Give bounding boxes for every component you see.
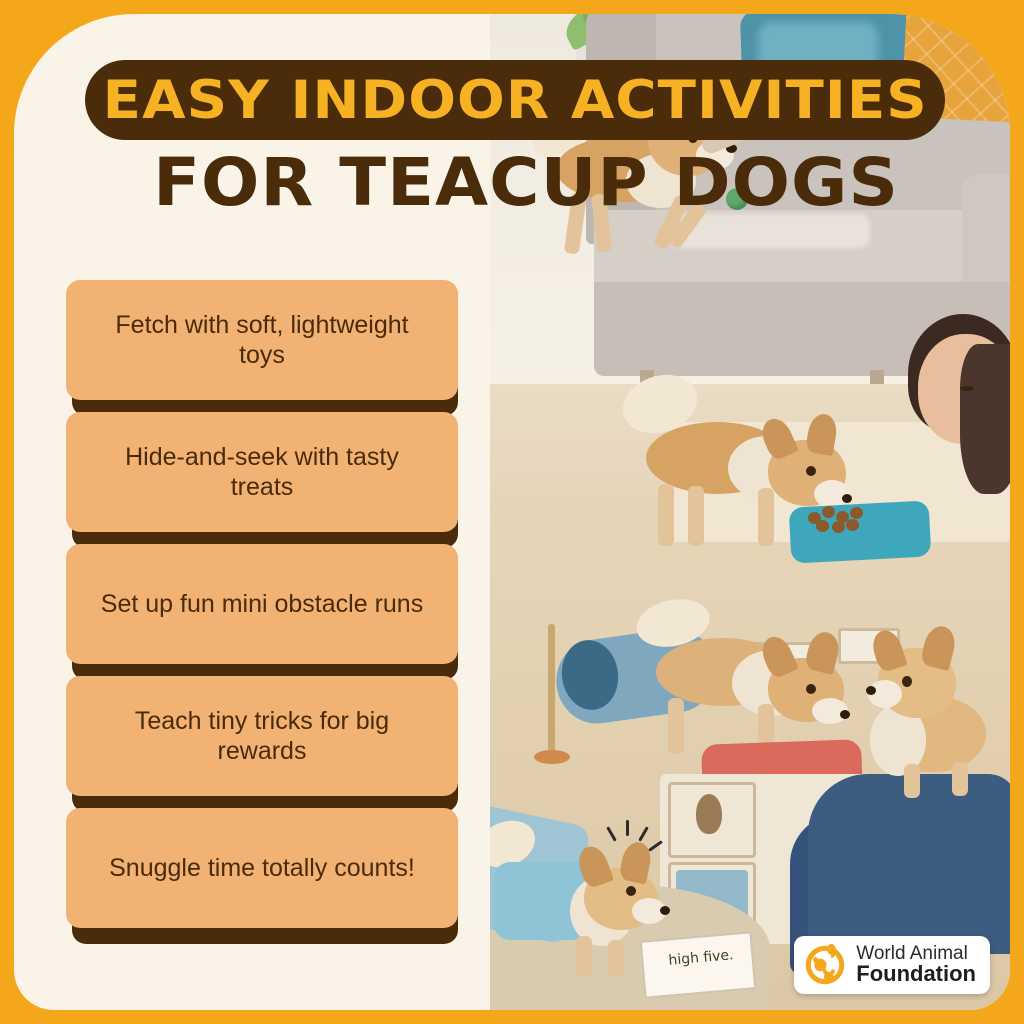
dog-ear — [804, 629, 843, 675]
list-item[interactable]: Hide-and-seek with tasty treats — [66, 412, 466, 532]
page-title-line2: FOR TEACUP DOGS — [14, 144, 1010, 221]
world-animal-foundation-logo-icon — [803, 943, 847, 987]
dog-eye — [626, 886, 636, 896]
title-banner: EASY INDOOR ACTIVITIES — [85, 60, 945, 140]
treat — [846, 519, 859, 531]
treat — [832, 521, 845, 533]
brand-logo-text: World Animal Foundation — [856, 944, 976, 986]
dog-leg — [952, 762, 968, 796]
activity-card[interactable]: Set up fun mini obstacle runs — [66, 544, 458, 664]
brand-logo[interactable]: World Animal Foundation — [794, 936, 990, 994]
dog-held-by-person — [868, 634, 1008, 804]
treat — [822, 506, 835, 518]
poster-panel: high five. EASY INDOOR ACTIVITIES FOR TE… — [14, 14, 1010, 1010]
dog-eye — [902, 676, 912, 687]
activity-list: Fetch with soft, lightweight toys Hide-a… — [66, 280, 466, 940]
dog-eye — [806, 684, 816, 694]
dog-leg — [904, 764, 920, 798]
page-title-line1: EASY INDOOR ACTIVITIES — [102, 70, 927, 131]
dog-leg — [658, 484, 674, 546]
dog-leg — [758, 488, 774, 546]
activity-text: Teach tiny tricks for big rewards — [92, 706, 432, 767]
dog-ear — [869, 627, 908, 674]
dog-leg — [668, 698, 684, 754]
activity-text: Snuggle time totally counts! — [109, 853, 415, 884]
treat — [850, 507, 863, 519]
dog-leg — [576, 936, 592, 976]
agility-pole-base — [534, 750, 570, 764]
activity-card[interactable]: Snuggle time totally counts! — [66, 808, 458, 928]
brand-name-line2: Foundation — [856, 963, 976, 985]
list-item[interactable]: Teach tiny tricks for big rewards — [66, 676, 466, 796]
activity-card[interactable]: Hide-and-seek with tasty treats — [66, 412, 458, 532]
activity-card[interactable]: Fetch with soft, lightweight toys — [66, 280, 458, 400]
activity-text: Fetch with soft, lightweight toys — [92, 310, 432, 371]
agility-pole — [548, 624, 555, 752]
person-hair-strand — [960, 344, 1010, 494]
infographic-poster: high five. EASY INDOOR ACTIVITIES FOR TE… — [0, 0, 1024, 1024]
list-item[interactable]: Snuggle time totally counts! — [66, 808, 466, 928]
activity-card[interactable]: Teach tiny tricks for big rewards — [66, 676, 458, 796]
dog-nose — [840, 710, 850, 719]
treat — [816, 520, 829, 532]
list-item[interactable]: Fetch with soft, lightweight toys — [66, 280, 466, 400]
cabinet-decor-icon — [696, 794, 722, 834]
dog-nose — [842, 494, 852, 503]
dog-nose — [866, 686, 876, 695]
dog-eye — [806, 466, 816, 476]
dog-leg — [688, 486, 704, 546]
person-eye — [960, 386, 974, 391]
treats-group — [808, 506, 864, 532]
list-item[interactable]: Set up fun mini obstacle runs — [66, 544, 466, 664]
dog-leg — [608, 940, 624, 976]
activity-text: Set up fun mini obstacle runs — [101, 589, 423, 620]
dog-nose — [660, 906, 670, 915]
sparkle-icon — [626, 820, 629, 836]
activity-text: Hide-and-seek with tasty treats — [92, 442, 432, 503]
